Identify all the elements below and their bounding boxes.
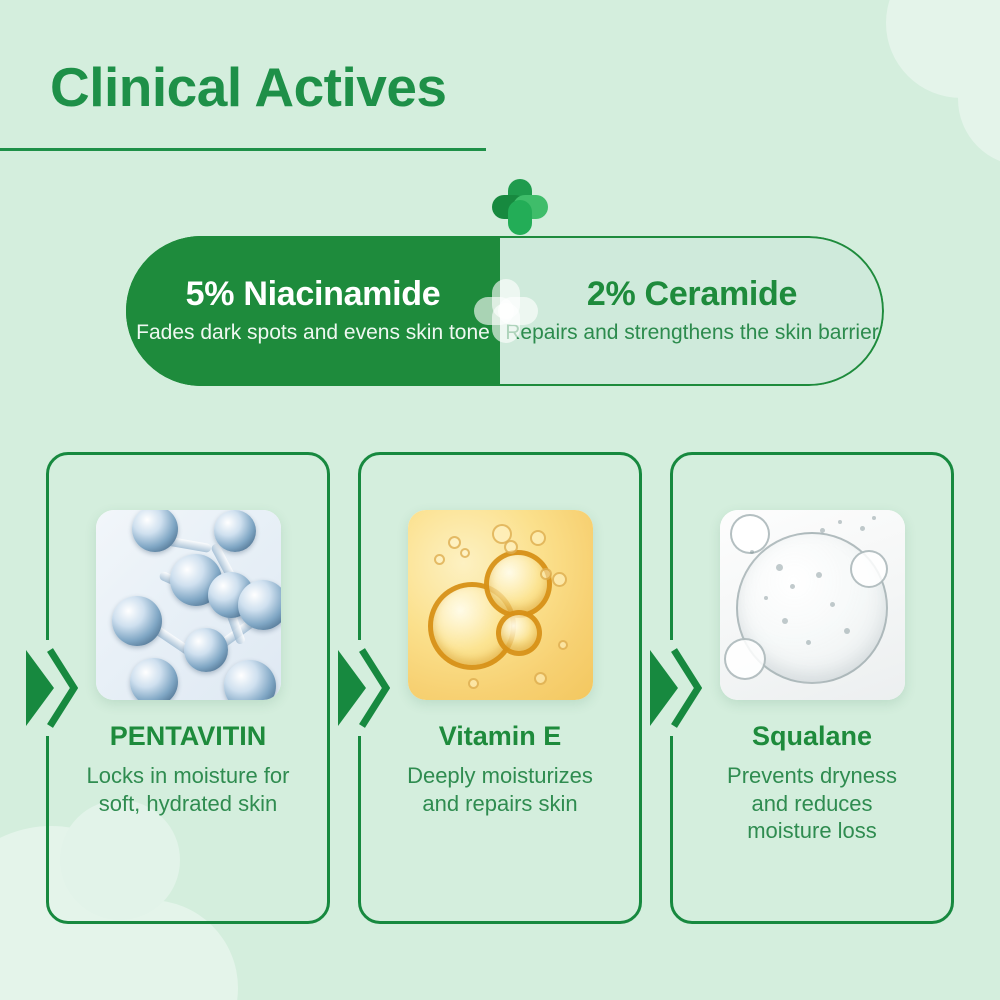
card-description: Locks in moisture for soft, hydrated ski… <box>46 762 330 817</box>
plus-clover-icon <box>474 279 538 343</box>
ingredient-card-pentavitin[interactable]: PENTAVITIN Locks in moisture for soft, h… <box>46 452 330 924</box>
card-description: Deeply moisturizes and repairs skin <box>358 762 642 817</box>
molecule-structure-image <box>96 510 281 700</box>
golden-oil-bubbles-image <box>408 510 593 700</box>
page-title: Clinical Actives <box>50 60 447 115</box>
ingredient-card-vitamin-e[interactable]: Vitamin E Deeply moisturizes and repairs… <box>358 452 642 924</box>
ingredient-cards: PENTAVITIN Locks in moisture for soft, h… <box>0 452 1000 924</box>
infographic-canvas: Clinical Actives 5% Niacinamide Fades da… <box>0 0 1000 1000</box>
banner-item-description: Fades dark spots and evens skin tone <box>136 320 490 346</box>
card-title: PENTAVITIN <box>46 722 330 752</box>
clear-oil-droplet-image <box>720 510 905 700</box>
banner-item-ceramide: 2% Ceramide Repairs and strengthens the … <box>500 236 884 386</box>
banner-item-description: Repairs and strengthens the skin barrier <box>505 320 879 346</box>
plus-clover-icon <box>492 179 548 235</box>
banner-item-niacinamide: 5% Niacinamide Fades dark spots and even… <box>126 236 500 386</box>
squalane-droplet-art <box>720 510 905 700</box>
banner-item-heading: 5% Niacinamide <box>186 277 441 313</box>
card-title: Vitamin E <box>358 722 642 752</box>
actives-banner: 5% Niacinamide Fades dark spots and even… <box>126 236 884 386</box>
card-title: Squalane <box>670 722 954 752</box>
molecule-art <box>96 510 281 700</box>
oil-bubbles-art <box>408 510 593 700</box>
banner-item-heading: 2% Ceramide <box>587 277 797 313</box>
header: Clinical Actives <box>0 60 1000 116</box>
title-divider <box>0 148 486 151</box>
card-description: Prevents dryness and reduces moisture lo… <box>670 762 954 845</box>
ingredient-card-squalane[interactable]: Squalane Prevents dryness and reduces mo… <box>670 452 954 924</box>
